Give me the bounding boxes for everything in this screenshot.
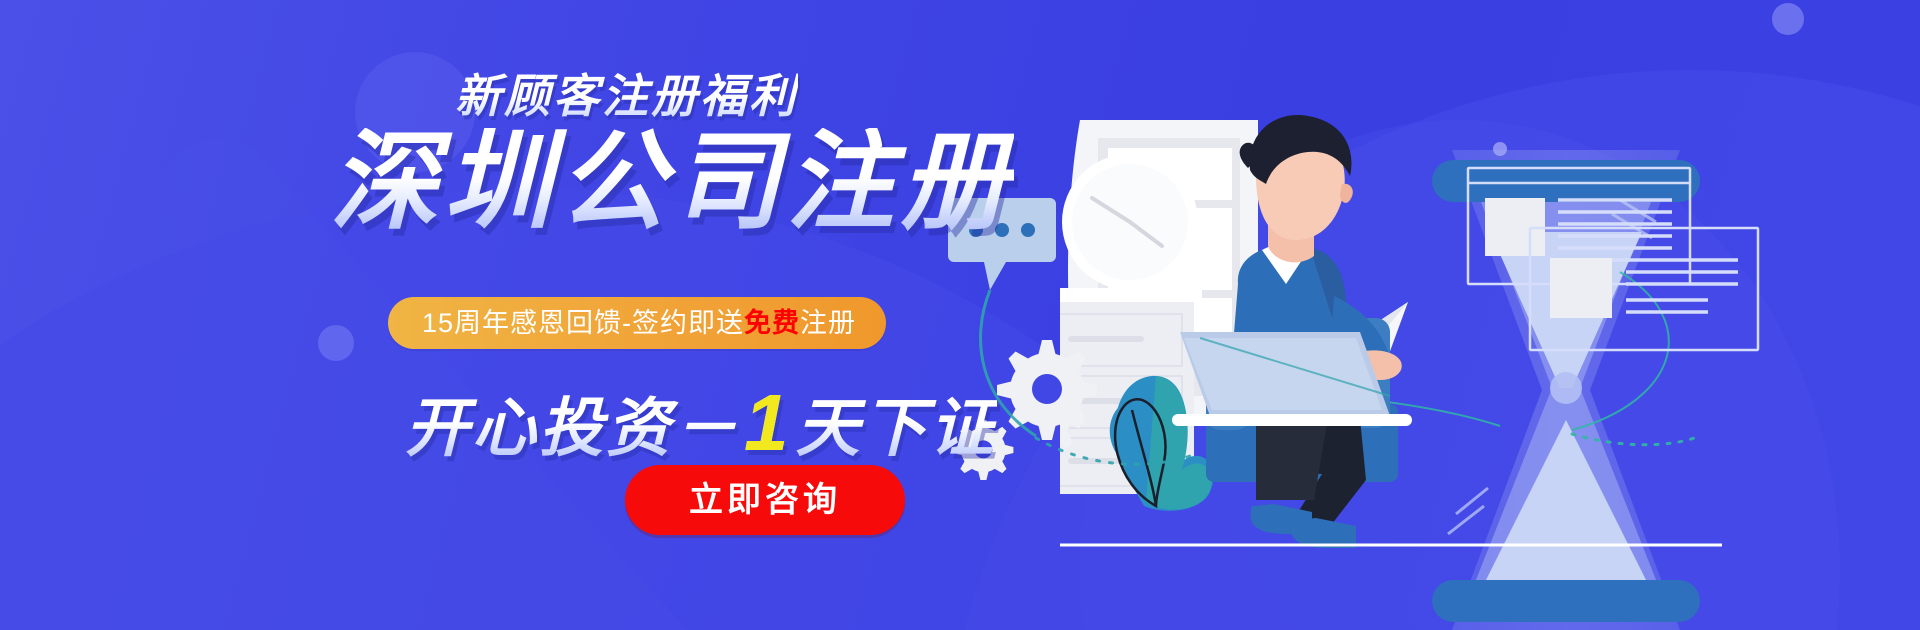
- promo-suffix: 注册: [800, 310, 856, 337]
- document-card-bottom-thumb: [1550, 258, 1612, 318]
- tagline: 新顾客注册福利: [455, 60, 798, 126]
- sub-headline: 开心投资－1天下证: [405, 383, 997, 463]
- wall-clock-icon: [1062, 154, 1198, 290]
- promo-prefix: 15周年感恩回馈-签约即送: [422, 310, 744, 337]
- promo-highlight: 免费: [744, 310, 800, 337]
- sub-headline-suffix: 天下证: [796, 392, 997, 464]
- document-card-bottom-lines: [1626, 260, 1738, 312]
- hourglass-icon: [1432, 150, 1700, 630]
- page-title: 深圳公司注册: [330, 128, 1014, 236]
- sub-headline-prefix: 开心投资－: [405, 392, 740, 464]
- banner-copy: 新顾客注册福利 深圳公司注册 15周年感恩回馈-签约即送免费注册 开心投资－1天…: [0, 0, 1060, 630]
- consult-now-label: 立即咨询: [689, 483, 841, 517]
- promotional-banner: 新顾客注册福利 深圳公司注册 15周年感恩回馈-签约即送免费注册 开心投资－1天…: [0, 0, 1920, 630]
- sub-headline-number: 1: [740, 378, 796, 467]
- promo-badge: 15周年感恩回馈-签约即送免费注册: [388, 297, 886, 349]
- consult-now-button[interactable]: 立即咨询: [625, 465, 905, 535]
